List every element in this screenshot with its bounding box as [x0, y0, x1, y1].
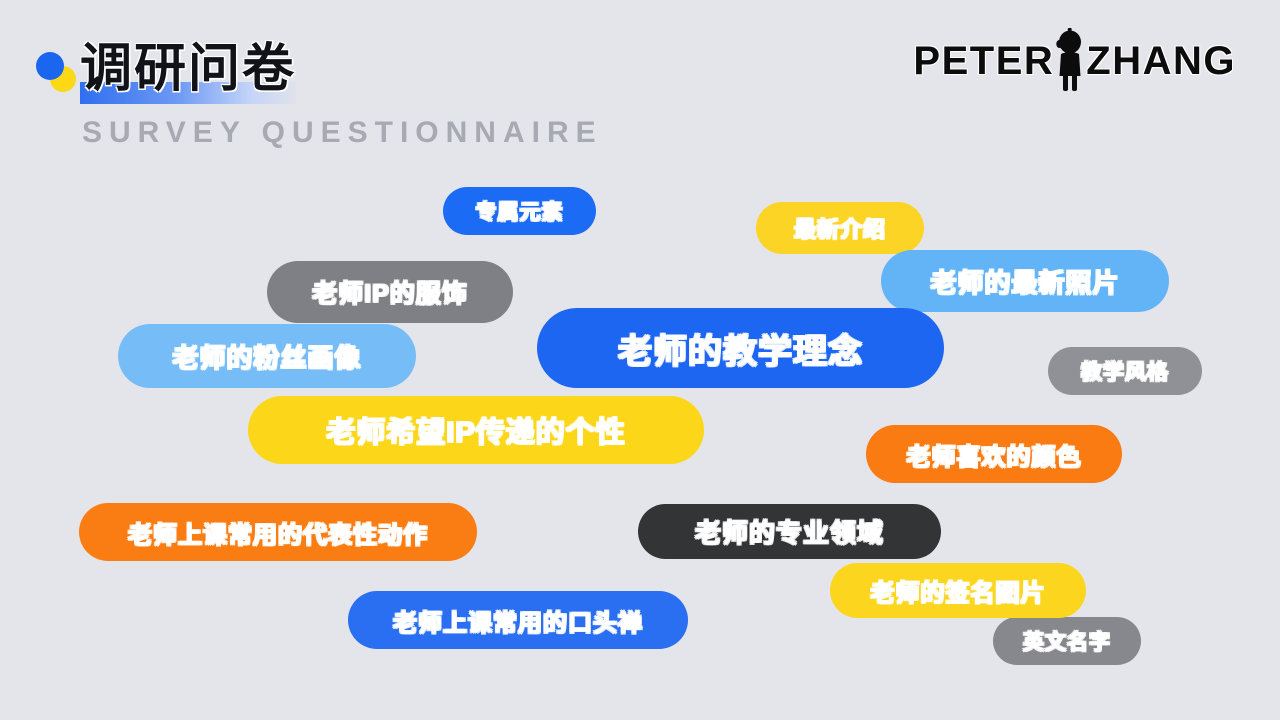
brand-word-left: PETER: [913, 39, 1054, 84]
page-title: 调研问卷: [80, 36, 680, 102]
pill-teacher-fan-portrait[interactable]: 老师的粉丝画像: [118, 324, 416, 388]
pill-teacher-latest-photo[interactable]: 老师的最新照片: [881, 250, 1169, 312]
pill-english-name[interactable]: 英文名字: [993, 617, 1141, 665]
brand-logo: PETER ZHANG: [913, 26, 1236, 96]
pill-teaching-philosophy[interactable]: 老师的教学理念: [537, 308, 944, 388]
pill-latest-intro[interactable]: 最新介绍: [756, 202, 924, 254]
pill-ip-personality[interactable]: 老师希望IP传递的个性: [248, 396, 704, 464]
pill-teaching-style[interactable]: 教学风格: [1048, 347, 1202, 395]
brand-word-right: ZHANG: [1086, 39, 1236, 84]
logo-dots-icon: [36, 52, 84, 96]
pill-favorite-color[interactable]: 老师喜欢的颜色: [866, 425, 1122, 483]
pill-professional-field[interactable]: 老师的专业领域: [638, 504, 941, 559]
title-block: 调研问卷 SURVEY QUESTIONNAIRE: [80, 36, 680, 156]
pill-teacher-ip-outfit[interactable]: 老师IP的服饰: [267, 261, 513, 323]
page-subtitle: SURVEY QUESTIONNAIRE: [82, 114, 603, 152]
pill-signature-gestures[interactable]: 老师上课常用的代表性动作: [79, 503, 477, 561]
person-silhouette-icon: [1052, 28, 1088, 94]
survey-questionnaire-slide: 调研问卷 SURVEY QUESTIONNAIRE PETER ZHANG 专属…: [0, 0, 1280, 720]
blue-circle-icon: [36, 52, 64, 80]
pill-signature-image[interactable]: 老师的签名图片: [830, 563, 1086, 618]
pill-catchphrase[interactable]: 老师上课常用的口头禅: [348, 591, 688, 649]
pill-exclusive-element[interactable]: 专属元素: [443, 187, 596, 235]
